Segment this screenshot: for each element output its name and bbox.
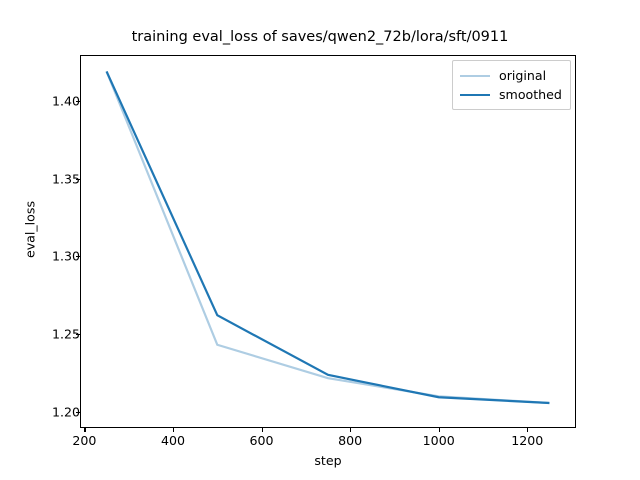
legend-swatch-original xyxy=(460,75,490,77)
x-tick-label: 1200 xyxy=(492,433,562,448)
x-tick-label: 600 xyxy=(227,433,297,448)
y-tick-mark xyxy=(76,179,80,180)
y-tick-label: 1.35 xyxy=(34,171,80,186)
x-tick-label: 800 xyxy=(315,433,385,448)
y-tick-label: 1.40 xyxy=(34,93,80,108)
plot-lines xyxy=(80,55,576,428)
y-axis-ticks: 1.201.251.301.351.40 xyxy=(24,0,80,480)
chart-figure: training eval_loss of saves/qwen2_72b/lo… xyxy=(0,0,640,480)
y-tick-mark xyxy=(76,412,80,413)
x-tick-mark xyxy=(350,428,351,432)
series-line-original xyxy=(107,71,550,403)
y-tick-label: 1.20 xyxy=(34,404,80,419)
chart-legend: original smoothed xyxy=(452,60,571,110)
x-tick-label: 1000 xyxy=(404,433,474,448)
y-tick-mark xyxy=(76,101,80,102)
legend-item-smoothed: smoothed xyxy=(460,85,562,104)
legend-swatch-smoothed xyxy=(460,94,490,96)
legend-label-original: original xyxy=(499,68,546,83)
y-tick-mark xyxy=(76,334,80,335)
y-tick-mark xyxy=(76,256,80,257)
x-tick-mark xyxy=(262,428,263,432)
x-tick-mark xyxy=(527,428,528,432)
y-tick-label: 1.30 xyxy=(34,249,80,264)
x-tick-mark xyxy=(84,428,85,432)
x-tick-label: 400 xyxy=(138,433,208,448)
y-tick-label: 1.25 xyxy=(34,326,80,341)
x-tick-mark xyxy=(439,428,440,432)
legend-label-smoothed: smoothed xyxy=(499,87,562,102)
legend-item-original: original xyxy=(460,66,562,85)
chart-title: training eval_loss of saves/qwen2_72b/lo… xyxy=(0,29,640,45)
x-axis-label: step xyxy=(80,453,576,468)
x-tick-label: 200 xyxy=(49,433,119,448)
x-tick-mark xyxy=(173,428,174,432)
